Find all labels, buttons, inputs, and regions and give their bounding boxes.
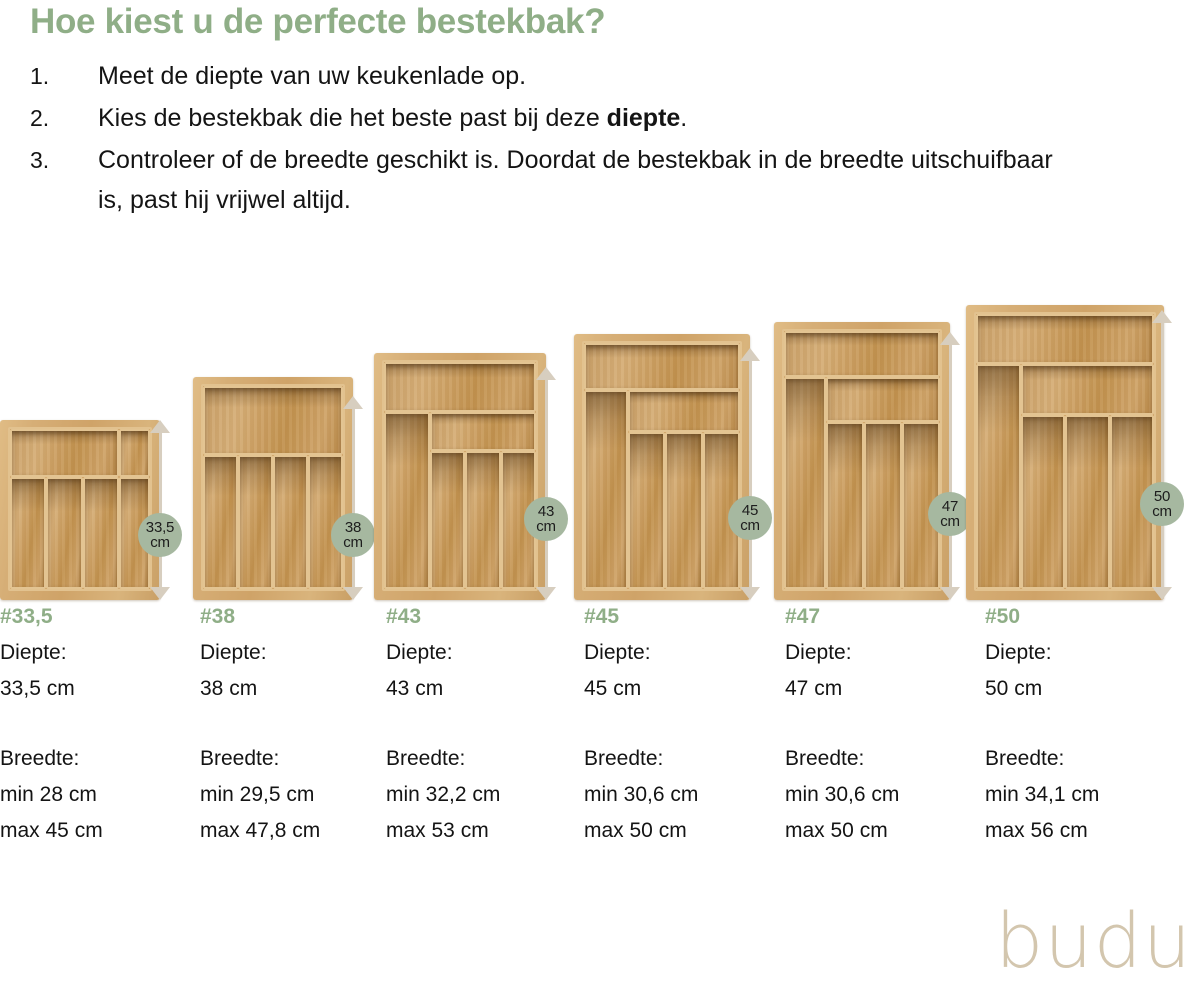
spec-column-38: #38 Diepte: 38 cm Breedte: min 29,5 cm m… (200, 604, 390, 849)
arrow-head-down-icon (740, 587, 760, 600)
tray-col-right (826, 377, 940, 589)
width-label: Breedte: (785, 741, 975, 777)
depth-label: Diepte: (584, 635, 774, 671)
tray-unit-33-5: 33,5 cm (0, 420, 200, 600)
tray-row-slots (430, 451, 536, 589)
tray-unit-43: 43 cm (374, 353, 574, 600)
spec-code: #43 (386, 604, 576, 630)
tray-compartment-tall-left (784, 377, 826, 589)
spec-code: #45 (584, 604, 774, 630)
tray-compartment-tall-left (584, 390, 628, 589)
arrow-head-down-icon (536, 587, 556, 600)
arrow-line (159, 430, 162, 590)
badge-unit: cm (536, 519, 556, 534)
depth-badge-50: 50 cm (1140, 482, 1184, 526)
tray-compartment (628, 390, 740, 432)
tray-image-47 (774, 322, 950, 600)
width-min: min 29,5 cm (200, 777, 390, 813)
arrow-line (545, 377, 548, 590)
depth-badge-38: 38 cm (331, 513, 375, 557)
spacer (386, 707, 576, 741)
tray-unit-38: 38 cm (193, 377, 393, 600)
width-label: Breedte: (200, 741, 390, 777)
arrow-head-down-icon (1152, 587, 1172, 600)
arrow-line (1161, 320, 1164, 590)
tray-unit-50: 50 cm (966, 305, 1200, 600)
badge-value: 38 (345, 520, 361, 535)
depth-value: 45 cm (584, 671, 774, 707)
dimension-arrow-43: 43 cm (526, 367, 566, 600)
spacer (0, 707, 190, 741)
width-min: min 32,2 cm (386, 777, 576, 813)
tray-row-top (10, 429, 150, 477)
badge-value: 47 (942, 499, 958, 514)
spec-column-50: #50 Diepte: 50 cm Breedte: min 34,1 cm m… (985, 604, 1175, 849)
badge-value: 45 (742, 503, 758, 518)
width-max: max 53 cm (386, 813, 576, 849)
tray-inner (201, 384, 345, 591)
width-max: max 45 cm (0, 813, 190, 849)
tray-col-right (628, 390, 740, 589)
width-min: min 34,1 cm (985, 777, 1175, 813)
tray-inner (782, 329, 942, 591)
dimension-arrow-33-5: 33,5 cm (140, 420, 180, 600)
depth-badge-43: 43 cm (524, 497, 568, 541)
tray-unit-45: 45 cm (574, 334, 774, 600)
tray-row-main (976, 364, 1154, 590)
tray-compartment (584, 343, 740, 390)
tray-row-top (203, 386, 343, 455)
tray-image-45 (574, 334, 750, 600)
width-max: max 47,8 cm (200, 813, 390, 849)
width-label: Breedte: (985, 741, 1175, 777)
tray-compartment (203, 455, 238, 589)
tray-compartment (83, 477, 119, 589)
tray-col-right (1021, 364, 1155, 590)
tray-row-main (384, 412, 536, 589)
width-max: max 50 cm (584, 813, 774, 849)
tray-row-top (976, 314, 1154, 364)
width-max: max 56 cm (985, 813, 1175, 849)
tray-compartment (826, 422, 864, 589)
tray-row-top (784, 331, 940, 377)
width-min: min 30,6 cm (785, 777, 975, 813)
depth-value: 38 cm (200, 671, 390, 707)
badge-unit: cm (343, 535, 363, 550)
tray-compartment (238, 455, 273, 589)
tray-compartment-tall-left (384, 412, 430, 589)
dimension-arrow-50: 50 cm (1142, 310, 1182, 600)
arrow-line (352, 406, 355, 590)
tray-compartment (976, 314, 1154, 364)
spec-column-45: #45 Diepte: 45 cm Breedte: min 30,6 cm m… (584, 604, 774, 849)
tray-compartment (826, 377, 940, 421)
tray-compartment (1065, 415, 1110, 589)
depth-label: Diepte: (785, 635, 975, 671)
tray-inner (8, 427, 152, 591)
arrow-head-down-icon (940, 587, 960, 600)
depth-label: Diepte: (200, 635, 390, 671)
tray-compartment (628, 432, 665, 589)
tray-compartment (430, 412, 536, 451)
arrow-head-down-icon (150, 587, 170, 600)
width-min: min 30,6 cm (584, 777, 774, 813)
spec-code: #38 (200, 604, 390, 630)
depth-value: 33,5 cm (0, 671, 190, 707)
spacer (785, 707, 975, 741)
badge-value: 33,5 (146, 520, 174, 535)
depth-value: 50 cm (985, 671, 1175, 707)
depth-label: Diepte: (386, 635, 576, 671)
tray-illustrations: 33,5 cm 38 (0, 0, 1200, 600)
badge-value: 50 (1154, 489, 1170, 504)
arrow-head-down-icon (343, 587, 363, 600)
depth-value: 47 cm (785, 671, 975, 707)
tray-row-bottom (203, 455, 343, 589)
depth-value: 43 cm (386, 671, 576, 707)
arrow-line (949, 342, 952, 590)
width-label: Breedte: (386, 741, 576, 777)
tray-inner (582, 341, 742, 591)
tray-image-33-5 (0, 420, 160, 600)
dimension-arrow-45: 45 cm (730, 348, 770, 600)
tray-row-bottom (10, 477, 150, 589)
tray-compartment (10, 477, 46, 589)
tray-row-slots (628, 432, 740, 589)
tray-compartment (203, 386, 343, 455)
tray-row-slots (826, 422, 940, 589)
depth-badge-45: 45 cm (728, 496, 772, 540)
spec-column-43: #43 Diepte: 43 cm Breedte: min 32,2 cm m… (386, 604, 576, 849)
badge-unit: cm (940, 514, 960, 529)
tray-compartment (430, 451, 465, 589)
spec-column-47: #47 Diepte: 47 cm Breedte: min 30,6 cm m… (785, 604, 975, 849)
spec-code: #47 (785, 604, 975, 630)
tray-compartment (1021, 364, 1155, 416)
dimension-arrow-38: 38 cm (333, 396, 373, 600)
width-min: min 28 cm (0, 777, 190, 813)
tray-row-top (584, 343, 740, 390)
tray-compartment (665, 432, 702, 589)
tray-image-43 (374, 353, 546, 600)
spacer (200, 707, 390, 741)
tray-compartment (465, 451, 500, 589)
badge-unit: cm (150, 535, 170, 550)
depth-badge-33-5: 33,5 cm (138, 513, 182, 557)
depth-label: Diepte: (985, 635, 1175, 671)
arrow-line (749, 358, 752, 590)
dimension-arrow-47: 47 cm (930, 332, 970, 600)
budu-logo: budu (995, 901, 1192, 981)
width-label: Breedte: (0, 741, 190, 777)
depth-label: Diepte: (0, 635, 190, 671)
tray-inner (974, 312, 1156, 591)
spec-columns: #33,5 Diepte: 33,5 cm Breedte: min 28 cm… (0, 604, 1200, 864)
tray-row-top (384, 362, 536, 412)
tray-compartment (10, 429, 119, 477)
spec-code: #33,5 (0, 604, 190, 630)
tray-unit-47: 47 cm (774, 322, 974, 600)
tray-inner (382, 360, 538, 591)
tray-compartment-tall-left (976, 364, 1021, 590)
tray-image-50 (966, 305, 1164, 600)
tray-compartment (46, 477, 82, 589)
tray-compartment (273, 455, 308, 589)
tray-row-main (584, 390, 740, 589)
tray-row-slots (1021, 415, 1155, 589)
badge-unit: cm (1152, 504, 1172, 519)
badge-value: 43 (538, 504, 554, 519)
spacer (584, 707, 774, 741)
width-label: Breedte: (584, 741, 774, 777)
tray-col-right (430, 412, 536, 589)
tray-image-38 (193, 377, 353, 600)
tray-compartment (784, 331, 940, 377)
tray-row-main (784, 377, 940, 589)
width-max: max 50 cm (785, 813, 975, 849)
spacer (985, 707, 1175, 741)
tray-compartment (384, 362, 536, 412)
tray-compartment (1021, 415, 1066, 589)
badge-unit: cm (740, 518, 760, 533)
spec-code: #50 (985, 604, 1175, 630)
spec-column-33-5: #33,5 Diepte: 33,5 cm Breedte: min 28 cm… (0, 604, 190, 849)
tray-compartment (864, 422, 902, 589)
